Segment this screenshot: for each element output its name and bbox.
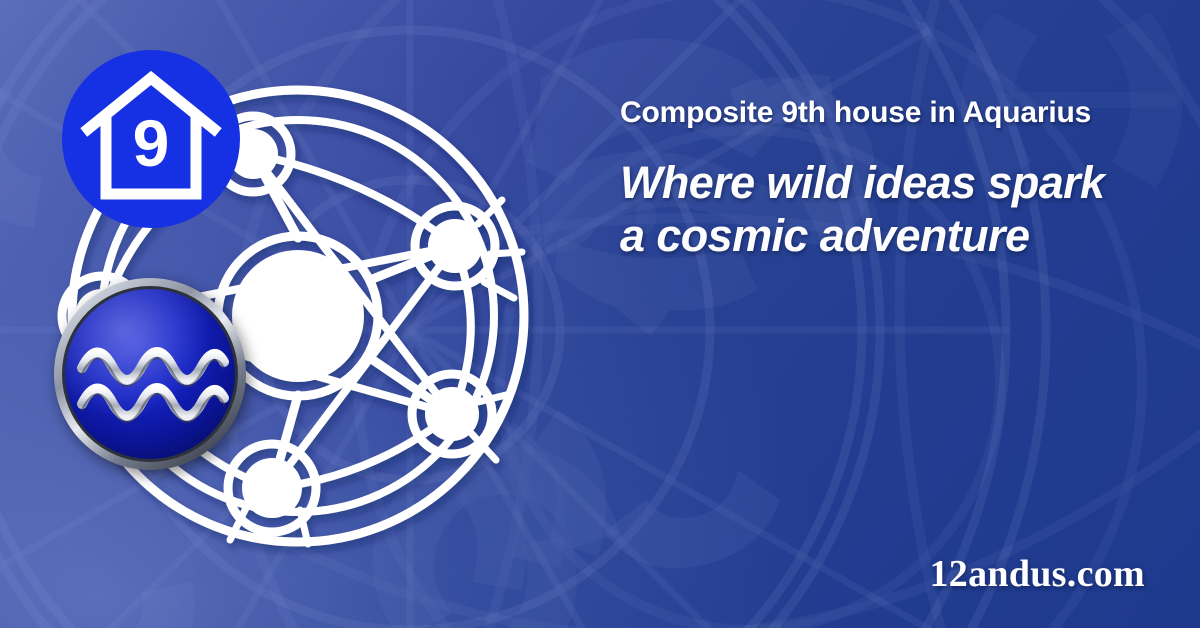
banner-text-block: Composite 9th house in Aquarius Where wi… bbox=[620, 96, 1160, 262]
banner-subheadline-line-2: a cosmic adventure bbox=[620, 209, 1160, 262]
astrology-banner: 9 bbox=[0, 0, 1200, 628]
banner-subheadline-line-1: Where wild ideas spark bbox=[620, 156, 1160, 209]
banner-subheadline: Where wild ideas spark a cosmic adventur… bbox=[620, 156, 1160, 262]
zodiac-sign-badge bbox=[52, 276, 248, 472]
banner-headline: Composite 9th house in Aquarius bbox=[620, 96, 1160, 130]
house-number-badge: 9 bbox=[62, 50, 240, 228]
site-url[interactable]: 12andus.com bbox=[929, 552, 1145, 596]
house-number-text: 9 bbox=[133, 106, 170, 180]
